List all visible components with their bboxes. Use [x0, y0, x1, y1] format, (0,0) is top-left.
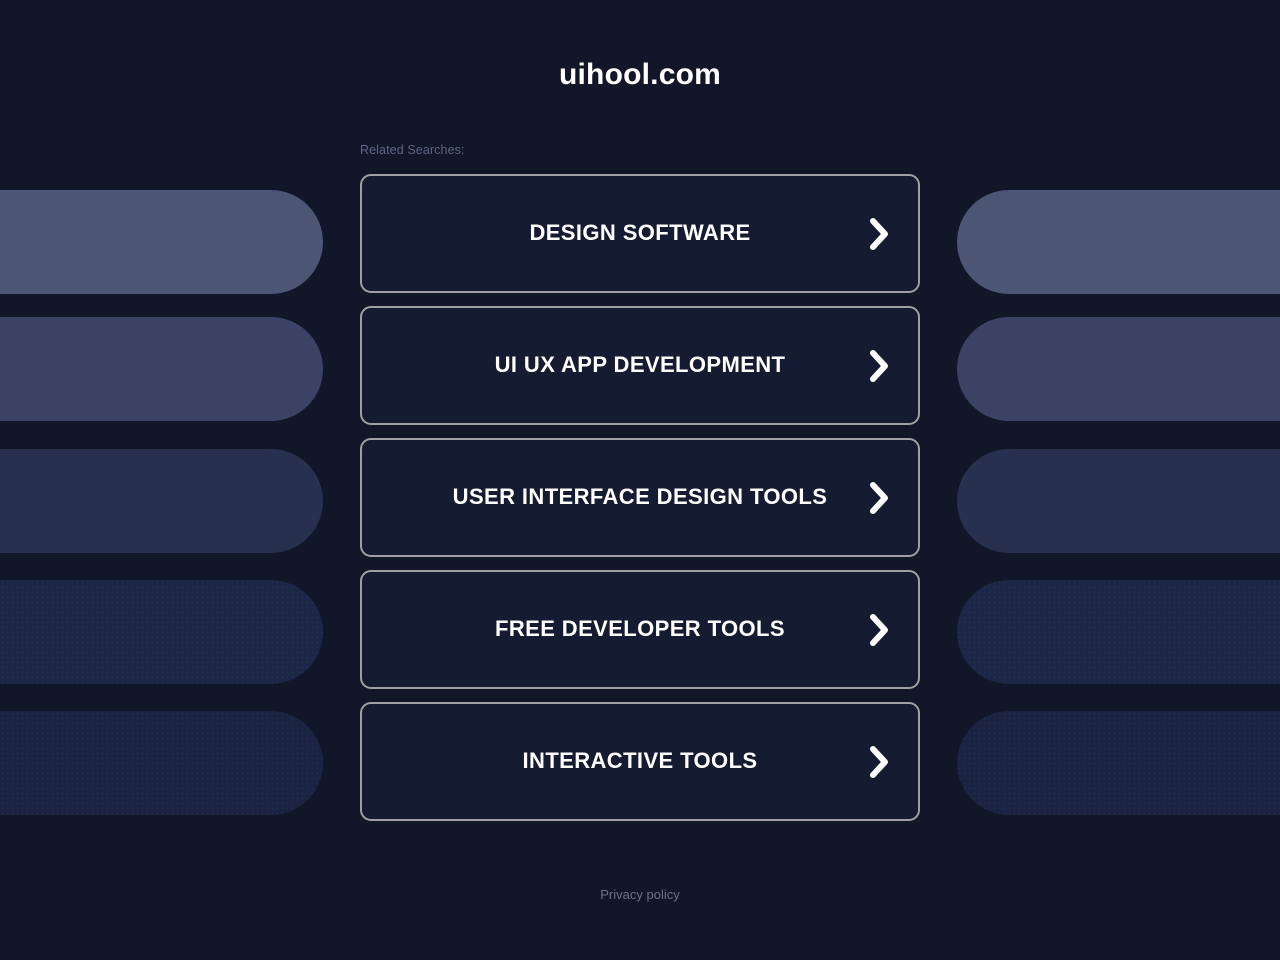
chevron-right-icon — [868, 217, 890, 251]
related-search-label: FREE DEVELOPER TOOLS — [425, 616, 855, 642]
related-search-item[interactable]: FREE DEVELOPER TOOLS — [360, 570, 920, 689]
related-search-item[interactable]: INTERACTIVE TOOLS — [360, 702, 920, 821]
related-searches-list: DESIGN SOFTWAREUI UX APP DEVELOPMENTUSER… — [360, 174, 920, 821]
footer: Privacy policy — [0, 886, 1280, 904]
privacy-policy-link[interactable]: Privacy policy — [600, 887, 679, 902]
chevron-right-icon — [868, 613, 890, 647]
related-search-label: UI UX APP DEVELOPMENT — [425, 352, 856, 378]
chevron-right-icon — [868, 745, 890, 779]
chevron-right-icon — [868, 349, 890, 383]
related-search-label: INTERACTIVE TOOLS — [453, 748, 828, 774]
chevron-right-icon — [868, 481, 890, 515]
related-search-item[interactable]: UI UX APP DEVELOPMENT — [360, 306, 920, 425]
related-searches-label: Related Searches: — [360, 143, 465, 157]
page-title: uihool.com — [0, 58, 1280, 92]
page-root: uihool.com Related Searches: DESIGN SOFT… — [0, 0, 1280, 960]
related-search-label: DESIGN SOFTWARE — [459, 220, 820, 246]
related-search-label: USER INTERFACE DESIGN TOOLS — [383, 484, 898, 510]
related-search-item[interactable]: DESIGN SOFTWARE — [360, 174, 920, 293]
related-search-item[interactable]: USER INTERFACE DESIGN TOOLS — [360, 438, 920, 557]
